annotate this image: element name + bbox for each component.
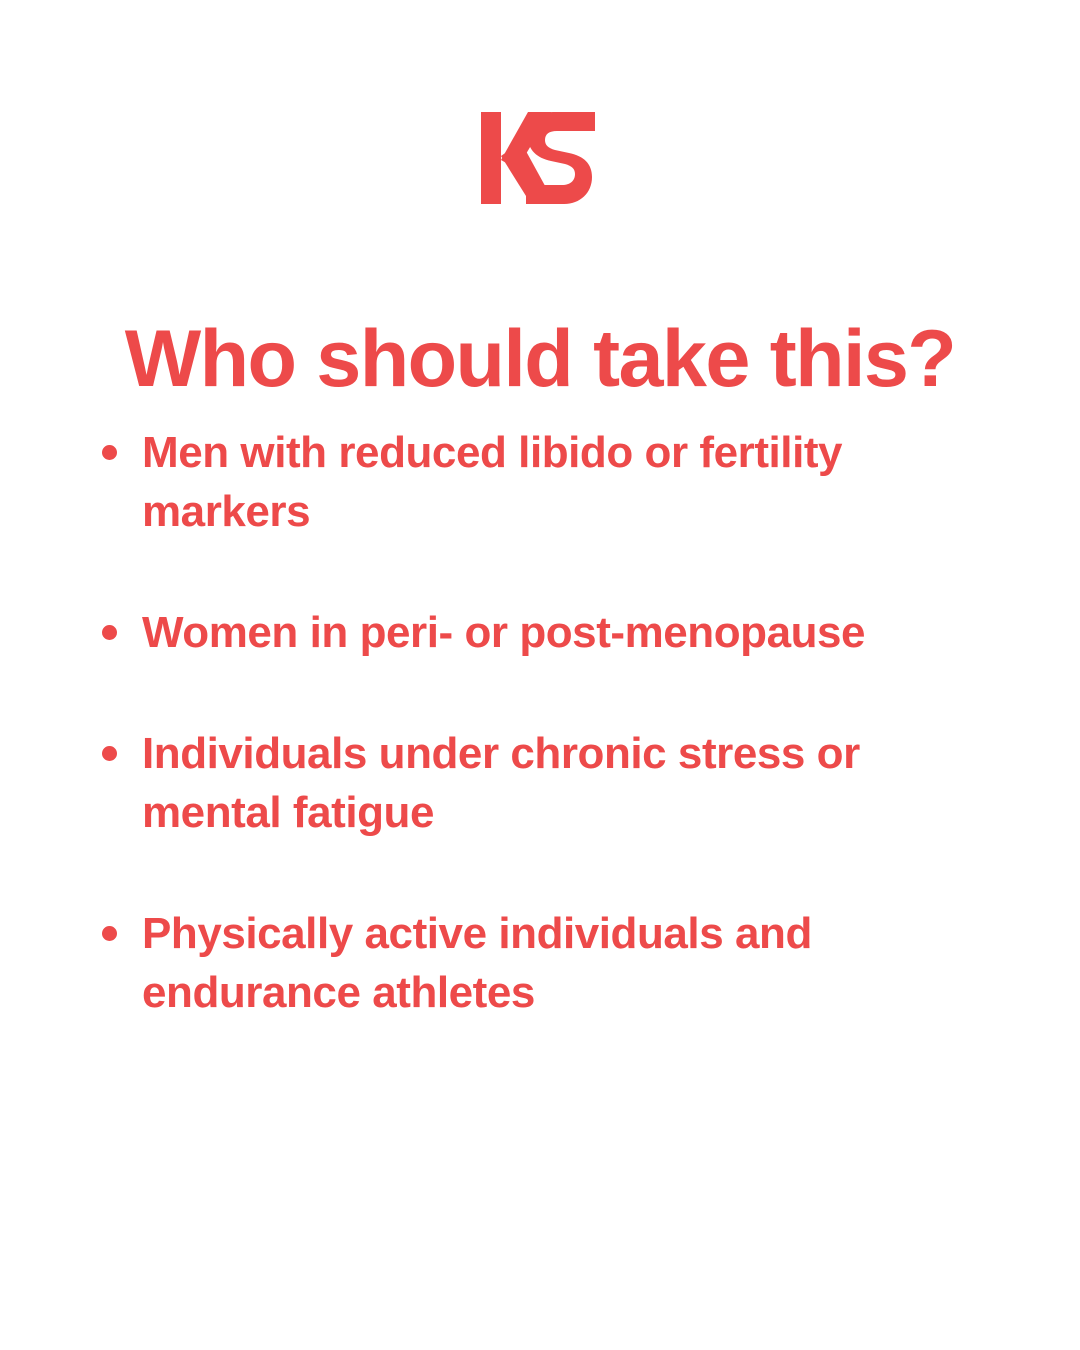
page-title: Who should take this? xyxy=(0,319,1080,400)
bullet-dot-icon xyxy=(102,926,117,941)
list-item-label: Women in peri- or post-menopause xyxy=(142,604,942,663)
list-item-label: Individuals under chronic stress or ment… xyxy=(142,725,942,843)
list-item: Men with reduced libido or fertility mar… xyxy=(92,424,942,542)
who-should-take-list: Men with reduced libido or fertility mar… xyxy=(92,424,972,1023)
list-item: Women in peri- or post-menopause xyxy=(92,604,942,663)
bullet-dot-icon xyxy=(102,445,117,460)
bullet-dot-icon xyxy=(102,746,117,761)
list-item: Physically active individuals and endura… xyxy=(92,905,942,1023)
list-item-label: Men with reduced libido or fertility mar… xyxy=(142,424,942,542)
list-item: Individuals under chronic stress or ment… xyxy=(92,725,942,843)
ks-monogram-icon xyxy=(481,112,599,204)
list-item-label: Physically active individuals and endura… xyxy=(142,905,942,1023)
bullet-dot-icon xyxy=(102,625,117,640)
brand-logo xyxy=(0,112,1080,204)
slide-canvas: Who should take this? Men with reduced l… xyxy=(0,0,1080,1350)
